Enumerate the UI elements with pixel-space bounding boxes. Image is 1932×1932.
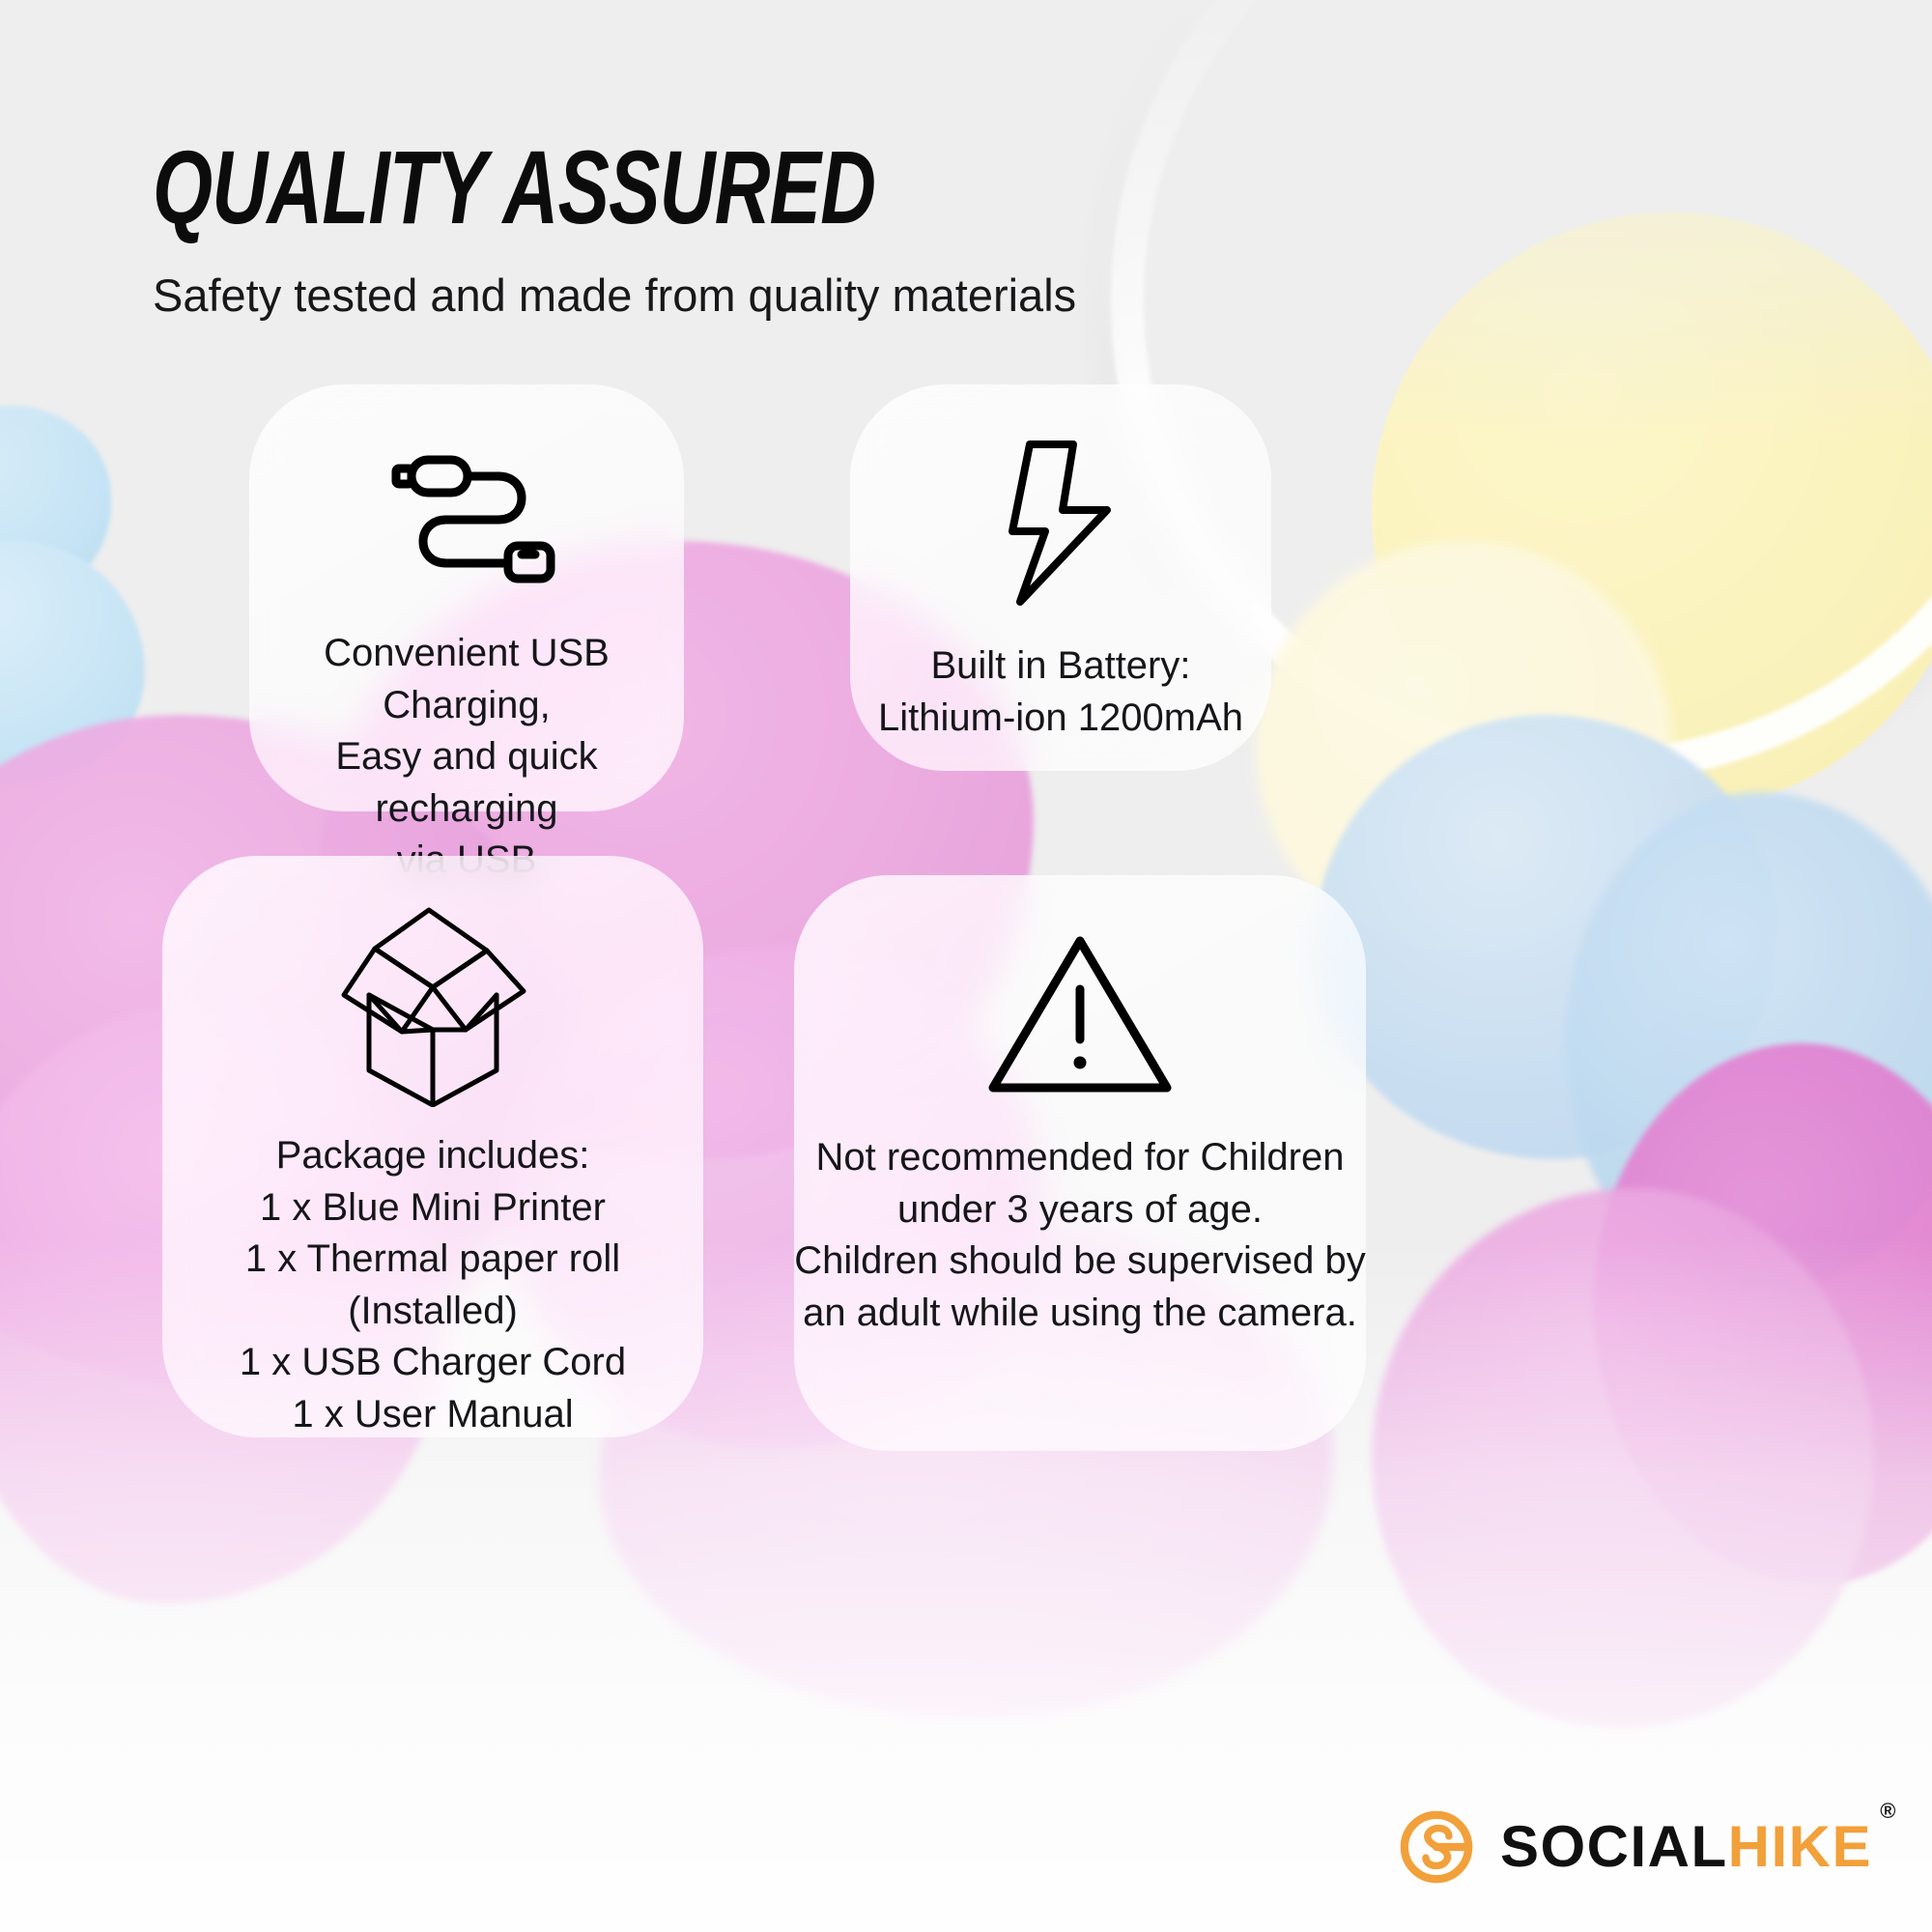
warning-triangle-icon [794,929,1366,1099]
registered-trademark-icon: ® [1880,1801,1897,1822]
blue-blob-left-upper [0,406,111,599]
feature-card-package-text: Package includes: 1 x Blue Mini Printer … [162,1130,703,1441]
header: QUALITY ASSURED Safety tested and made f… [153,135,1312,323]
yellow-sun-blob [1372,213,1932,811]
blue-blob-left-lower [0,541,145,782]
feature-card-battery-text: Built in Battery: Lithium-ion 1200mAh [878,640,1243,744]
magenta-blob-right [1594,1043,1932,1584]
infographic-canvas: QUALITY ASSURED Safety tested and made f… [0,0,1932,1932]
page-title: QUALITY ASSURED [153,135,1010,240]
page-subtitle: Safety tested and made from quality mate… [153,269,1312,323]
brand-word-primary: SOCIAL [1500,1814,1728,1879]
lightning-bolt-icon [850,439,1271,608]
feature-card-age-warning: Not recommended for Children under 3 yea… [794,875,1366,1451]
socialhike-swirl-icon [1392,1803,1481,1891]
pink-blob-right-lower [1372,1188,1874,1729]
brand-word-accent: HIKE [1728,1814,1872,1879]
feature-card-usb-charging: Convenient USB Charging, Easy and quick … [249,384,684,811]
feature-card-package: Package includes: 1 x Blue Mini Printer … [162,856,703,1437]
open-box-icon [162,895,703,1107]
feature-card-age-warning-text: Not recommended for Children under 3 yea… [794,1132,1365,1339]
brand-wordmark: SOCIALHIKE ® [1500,1818,1872,1876]
feature-card-battery: Built in Battery: Lithium-ion 1200mAh [850,384,1271,771]
feature-card-usb-charging-text: Convenient USB Charging, Easy and quick … [249,628,684,887]
brand-logo: SOCIALHIKE ® [1392,1803,1872,1891]
usb-cable-icon [249,448,684,603]
blue-blob-right-edge [1565,792,1932,1294]
blue-blob-right-upper [1314,715,1777,1159]
